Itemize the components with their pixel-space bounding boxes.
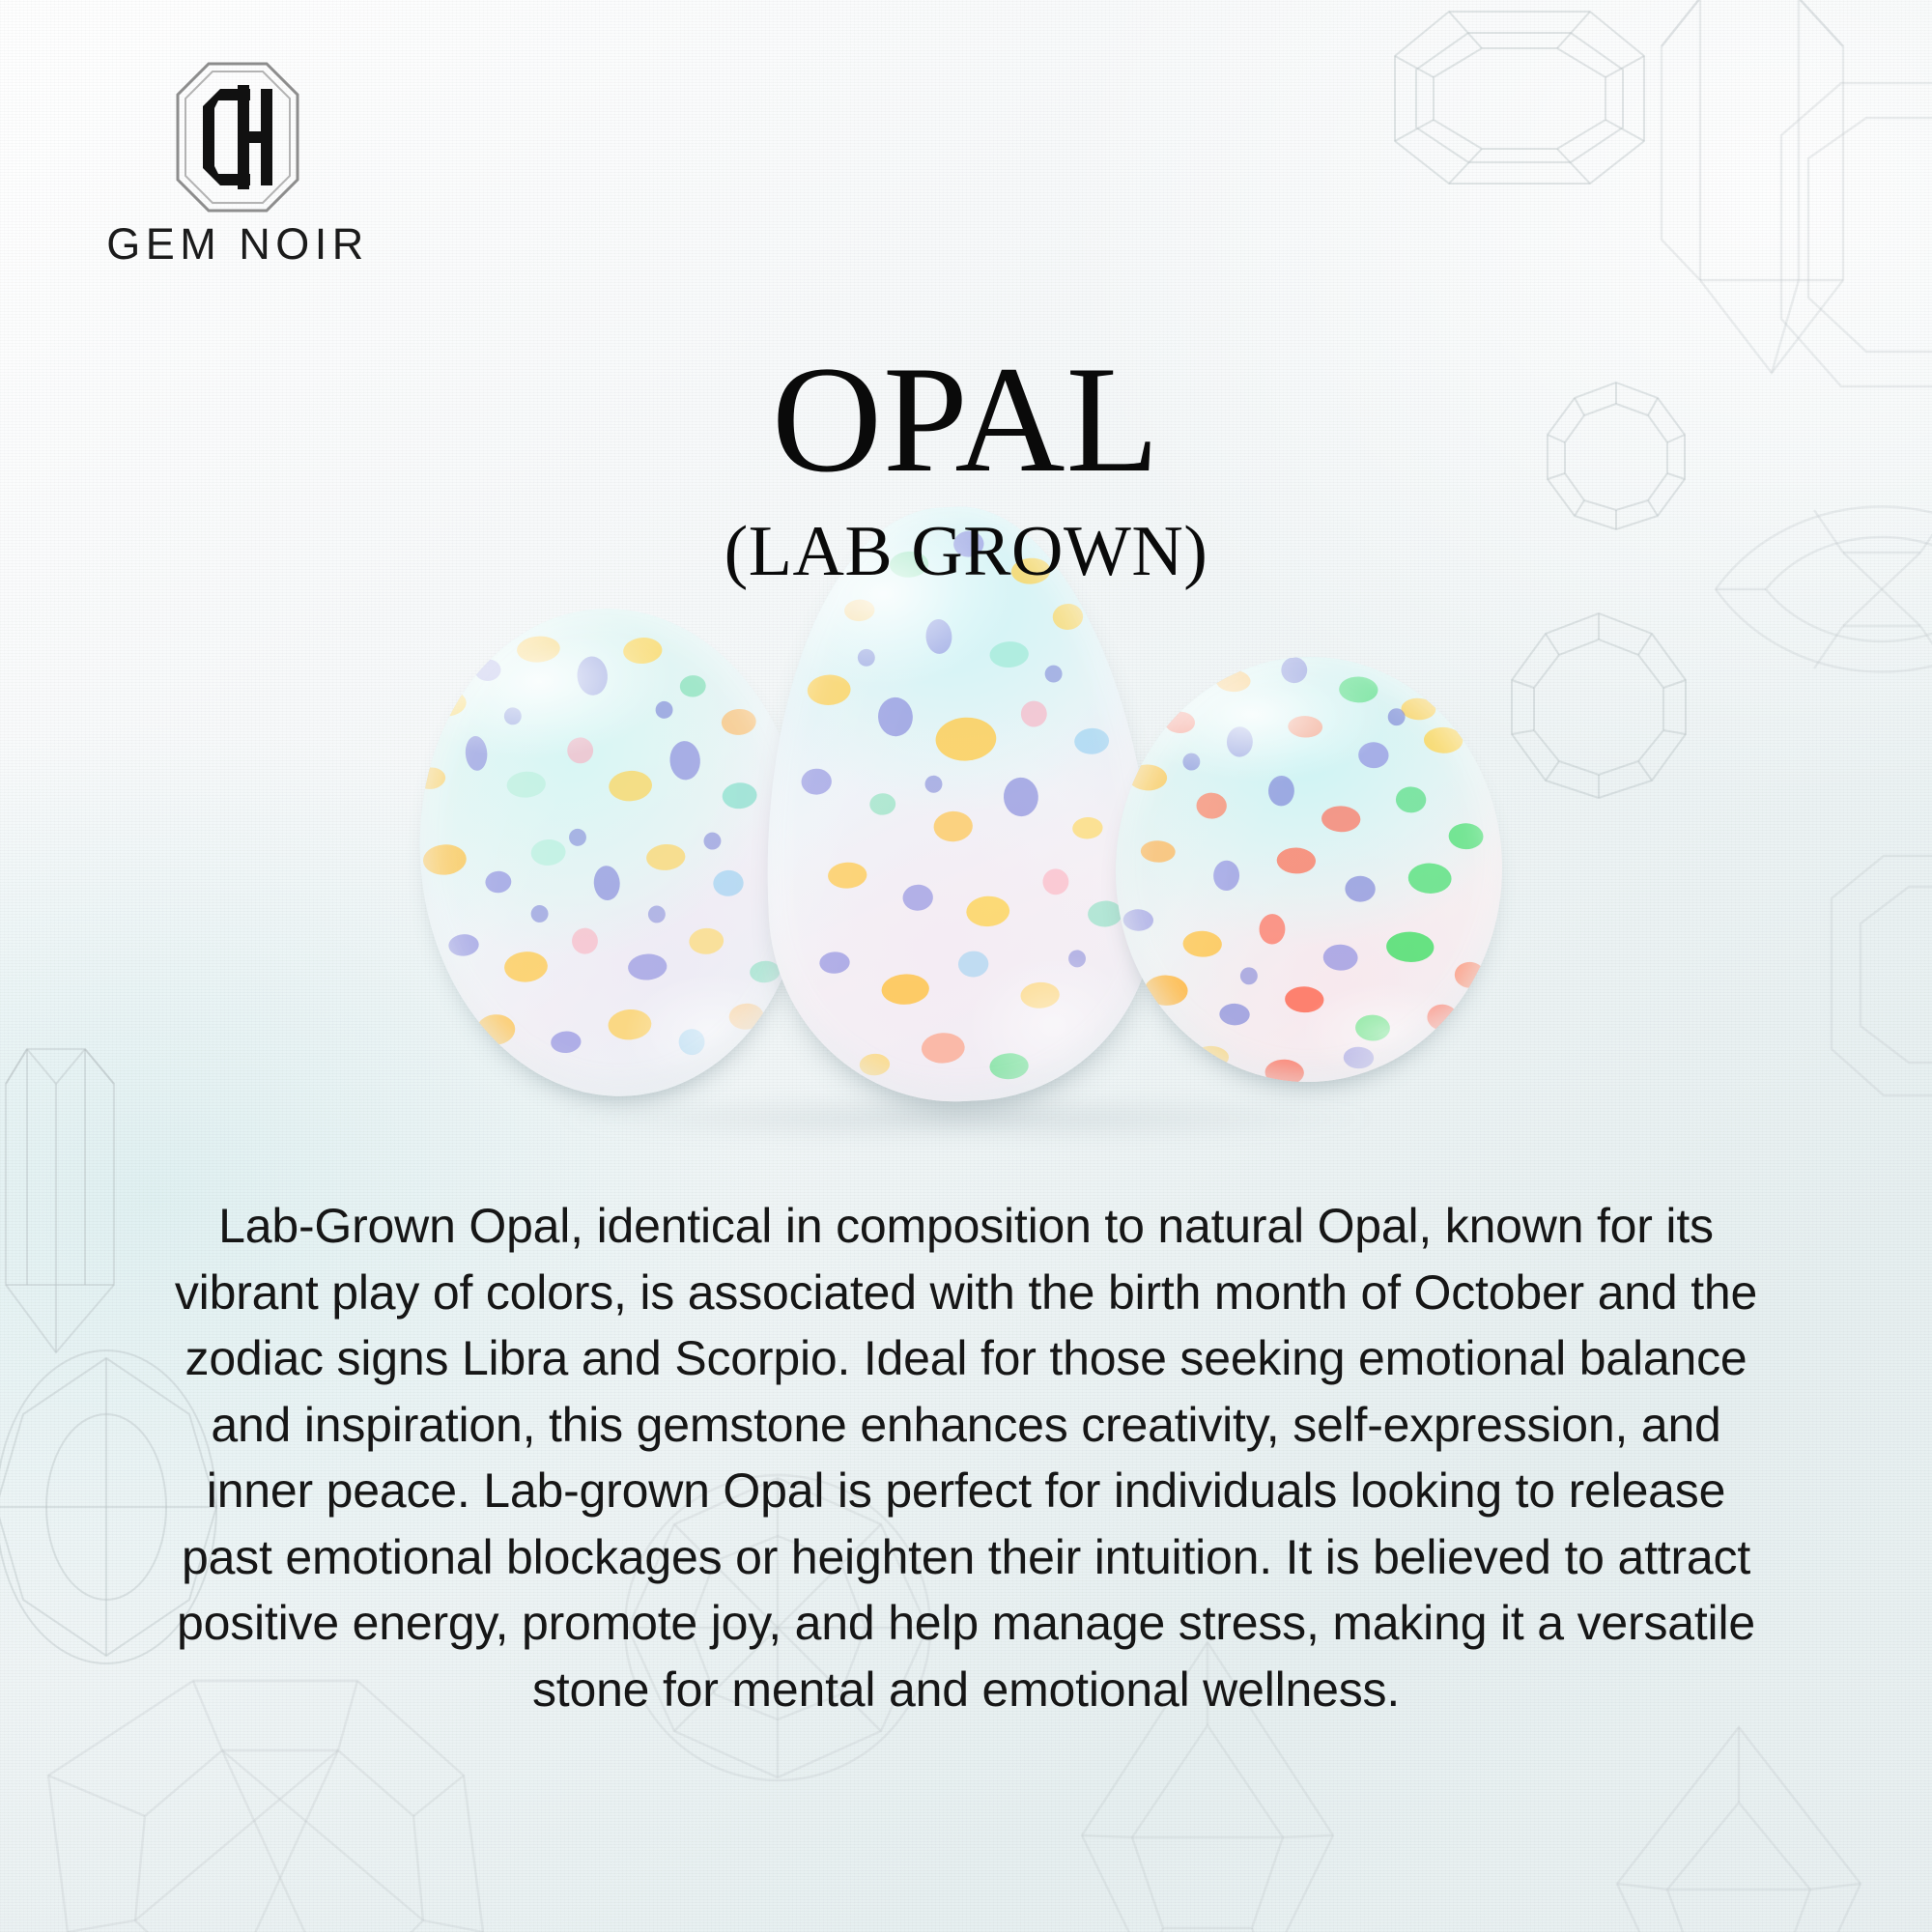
brand-name: GEM NOIR <box>93 222 383 266</box>
opal-cabochon-round-right <box>1108 650 1509 1089</box>
octagon-gem-monogram-icon <box>174 60 301 214</box>
heading-block: OPAL (LAB GROWN) <box>0 348 1932 587</box>
stone-iridescent-flecks <box>1108 650 1509 1089</box>
gemstone-image-group <box>0 618 1932 1159</box>
emerald-cut-octagon-icon <box>1389 6 1650 189</box>
opal-product-poster: GEM NOIR OPAL (LAB GROWN) <box>0 0 1932 1932</box>
page-subtitle: (LAB GROWN) <box>0 516 1932 587</box>
brand-logo[interactable]: GEM NOIR <box>93 60 383 266</box>
pear-brilliant-icon <box>1575 1719 1903 1932</box>
description-paragraph: Lab-Grown Opal, identical in composition… <box>164 1193 1768 1722</box>
baguette-crystal-icon <box>1654 0 1866 406</box>
page-title: OPAL <box>0 348 1932 493</box>
